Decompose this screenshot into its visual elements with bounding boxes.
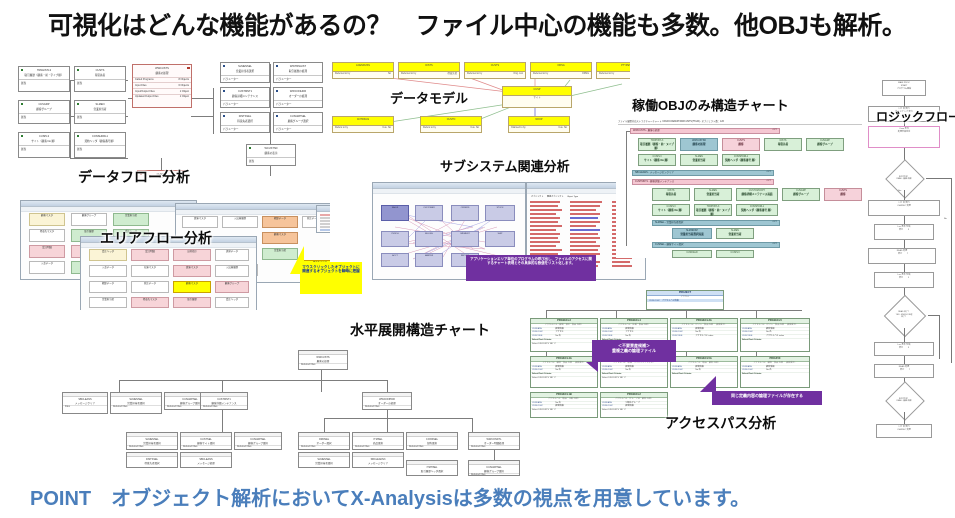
structure-node[interactable]: CUSPL3 サイト（顧客 No 順） <box>652 204 690 216</box>
caption-data-model: データモデル <box>390 88 468 107</box>
flow-step[interactable]: Loc 条件 分岐 実行 5 <box>874 272 934 288</box>
structure-node[interactable]: SLMEN 営業担当者 <box>680 154 718 166</box>
data-flow-node[interactable]: CUSPL3 サイト（顧客 No 順） 属性 <box>18 132 70 158</box>
data-flow-parameters: SLMENSEL 営業担当者選択 パラメーター WWTRNHIST 取引履歴の処… <box>218 58 338 183</box>
node-name: CUSFIELD <box>673 251 711 255</box>
node-title: TRNHISTL3 <box>19 67 69 74</box>
flow-branch-label: Yes <box>898 190 901 192</box>
cell-label: 顧客グループ <box>216 282 248 285</box>
menu-item[interactable] <box>320 217 330 219</box>
row-value: No.名 <box>625 335 630 338</box>
tree-node[interactable]: SLMENSEL 営業担当者選択 <box>298 452 350 468</box>
cell-label: 入出庫履歴 <box>216 266 248 269</box>
tree-root-node[interactable]: WWCUSTS 顧客の処理 Referred Files <box>298 350 348 370</box>
rel-label: Referred to by <box>401 72 416 75</box>
rel-label: Referred to by <box>599 72 614 75</box>
bar-label: SLMSEL - 営業担当者選択 <box>655 221 683 224</box>
node-foot: Referred Files <box>469 473 519 476</box>
context-menu[interactable] <box>316 205 330 233</box>
row-value: 顧客情報 <box>555 328 563 331</box>
node-foot: Referred Files <box>299 445 349 448</box>
node-foot: Referred Files <box>299 363 347 366</box>
table-row[interactable]: CUSLOGIC アクセスパス情報 <box>647 299 723 302</box>
parameter-node[interactable]: WWTRNHIST 取引履歴の処理 パラメーター <box>273 62 323 83</box>
node-title: CUSPL3 <box>19 133 69 140</box>
structure-node[interactable]: TRNHISTL3 取引履歴（顧客・前・ヌイブ順） <box>638 138 676 151</box>
caption-subsystem: サブシステム関連分析 <box>440 156 570 175</box>
caption-access-path: アクセスパス分析 <box>665 413 776 433</box>
node-foot: Referred Files <box>201 405 247 408</box>
row-value: アクセスパス index <box>766 335 784 338</box>
row-key: CUSDATA <box>742 328 766 331</box>
table-crit-label: Select/Omit Criteria <box>741 338 809 342</box>
node-label: SHIP <box>486 232 514 236</box>
data-flow-node[interactable]: CONSHDRL1 契約ヘッダ（顧客番号順） 属性 <box>74 132 126 158</box>
node-desc: 営業担当者 <box>695 193 731 197</box>
node-desc: 顧客詳細メンテナンス画面 <box>737 193 777 197</box>
node-foot: 属性 <box>247 157 295 164</box>
structure-node[interactable]: SLMEN 営業担当者 <box>716 228 754 239</box>
flow-step[interactable]: Loc 条件 分岐 実行 3 <box>874 224 934 240</box>
row-value: 8 Objects <box>178 78 189 82</box>
structure-node[interactable]: DISTS 得意先者 <box>764 138 802 151</box>
area-cell[interactable]: 受注明細 <box>29 245 65 258</box>
row-key: CUSLOGIC <box>672 369 695 372</box>
node-desc: 顧客 <box>825 193 861 197</box>
flow-decision[interactable]: READ 終了？ YES : ENDDO 処理 終了？ <box>880 302 928 328</box>
cell-label: 営業担当者 <box>90 298 126 301</box>
tree-node[interactable]: SBCLEANS メッセージ処理 <box>180 452 232 468</box>
tree-node[interactable]: ITMHSEL 取引履歴ヘッダ選択 <box>406 460 458 476</box>
node-title: WCUSTSD <box>247 145 295 152</box>
node-desc: メッセージ処理 <box>181 461 231 465</box>
node-foot: Referred Files <box>469 445 519 448</box>
data-flow-node[interactable]: CUSGRP 顧客グループ 属性 <box>18 100 70 124</box>
entity-rel: Referred to by 製品コード <box>597 72 630 76</box>
node-foot: パラメーター <box>221 100 269 107</box>
menu-item[interactable] <box>320 214 330 216</box>
row-value: 顧客情報 <box>695 366 703 369</box>
row-key: CUSLOGIC <box>532 331 555 334</box>
cell-label: 入金データ <box>30 262 64 265</box>
menu-titlebar[interactable] <box>317 206 330 212</box>
cell-label: 入出庫履歴 <box>223 217 257 220</box>
flow-step[interactable]: MAIN PROC START プログラム開始 <box>882 80 926 96</box>
crit-row: Select DISCUSTS 'NE' 'C' <box>602 377 626 380</box>
structure-root-bar[interactable]: WWCUSTS - 顧客の処理 OPT <box>630 128 780 134</box>
crit-row: Select DISCUSTS 'NE' 'C' <box>532 377 556 380</box>
cell-label: 請求データ <box>216 250 248 253</box>
menu-item[interactable] <box>320 223 330 225</box>
entity-name: ORSG <box>531 63 591 72</box>
tree-node[interactable]: CUSGRPSEL 顧客グループ選択 Referred Files <box>468 460 520 476</box>
row-label: Updates/Output Files <box>135 95 158 99</box>
structure-node[interactable]: CONSHDRL1 契約ヘッダ（顧客番号 順） <box>736 204 778 216</box>
node-desc: メッセージクリア <box>353 461 403 465</box>
area-cell[interactable]: 入金データ <box>29 261 65 274</box>
node-label: PURCH <box>382 232 408 236</box>
flow-step[interactable]: 1 行 目 実行 CHKREC 処理 <box>868 200 940 216</box>
node-desc: サイト（顧客 No 順） <box>639 159 675 163</box>
rel-label: Refers to by <box>335 126 348 129</box>
area-cell[interactable]: 棚卸データ <box>262 216 298 228</box>
parameter-node[interactable]: WWCONHDR オーダーの処理 パラメーター <box>273 87 323 108</box>
node-foot: Referred Files <box>353 445 403 448</box>
flow-step[interactable]: 1 行 目 実行 CHKREC 処理 <box>876 424 932 438</box>
tree-node[interactable]: SBCLEANS メッセージクリア Files <box>62 392 108 414</box>
step-label: Loc 条件 分岐 実行 3 <box>875 225 933 232</box>
structure-chart-title: ファイル展開対応ストラクチャーチャート XAN/KCOEMUP/WWCUSTS(… <box>618 119 724 123</box>
tree-node[interactable]: CONSSEL 契約選択 Referred Files <box>406 432 458 450</box>
row-label: Input Files <box>135 84 147 88</box>
node-title: SLMEN <box>75 101 125 108</box>
subsystem-node[interactable]: SHIP <box>485 231 515 247</box>
node-foot: 属性 <box>75 145 125 152</box>
area-cell[interactable]: 棚卸データ <box>89 281 127 293</box>
access-table[interactable]: PROJECL4A アクセスパス（顧客・製品 の順 ・ 顧客番号） CUSDAT… <box>530 356 598 388</box>
node-name: CUSPL3 <box>717 251 753 255</box>
data-flow-node[interactable]: CUSTS 得意先者 属性 <box>74 66 126 92</box>
subsystem-node[interactable]: STOCK <box>485 205 515 221</box>
structure-node[interactable]: SLMNDISP 営業担当者選択画面 <box>672 228 712 239</box>
structure-node[interactable]: CUSGRP 顧客グループ <box>806 138 844 151</box>
node-title: CUSGRP <box>19 101 69 108</box>
node-foot: Referred Files <box>127 445 177 448</box>
cell-label: 在庫マスタ <box>132 266 168 269</box>
status-square-icon <box>276 90 279 93</box>
data-model-entity[interactable]: NROP Claimed to by Cus. No <box>508 116 570 133</box>
row-key: CUSCODE <box>672 335 695 338</box>
rel-value: Cus. No <box>558 126 567 129</box>
row-value: 顧客情報 <box>695 328 703 331</box>
tree-node[interactable]: CUSGRPSEL 顧客グループ選択 Referred Files <box>234 432 282 450</box>
row-key: CUSDATA <box>742 366 766 369</box>
node-desc: 営業担当者 <box>717 233 753 237</box>
structure-node[interactable]: CUSTOMCOPY 顧客詳細メンテナンス画面 <box>736 188 778 201</box>
row-key: CUSLOGIC <box>532 405 555 408</box>
structure-node[interactable]: CUSPL3 <box>716 250 754 258</box>
row-value: 1 Object <box>180 95 189 99</box>
data-flow-center-node[interactable]: WWCUSTS 顧客の処理 Called Programs 8 Objects … <box>132 64 192 108</box>
rel-label: Refers to by <box>423 126 436 129</box>
tree-node[interactable]: CUSTMNT1 顧客詳細メンテナンス Referred Files <box>200 392 248 410</box>
rel-value: Cus. No <box>382 126 391 129</box>
center-node-row[interactable]: Updates/Output Files 1 Object <box>133 94 191 100</box>
parameter-node[interactable]: DISTSSEL 得意先者選択 パラメーター <box>220 112 270 133</box>
cell-label: 受注明細 <box>132 250 168 253</box>
cell-label: 発注データ <box>132 282 168 285</box>
subsystem-node[interactable]: PURCH <box>381 231 409 247</box>
node-desc: 契約ヘッダ（顧客番号 順） <box>737 209 777 213</box>
entity-rel: Refers to by Cus. No <box>333 126 393 130</box>
structure-node[interactable]: DISTS 得意先者 <box>652 188 690 201</box>
node-foot: Referred Files <box>363 405 411 408</box>
status-square-icon <box>77 69 80 72</box>
table-crit-row: Select DISCUSTS 'NE' 'C' <box>531 342 597 346</box>
data-model-entity[interactable]: PTYPES Referred to by 製品コード <box>596 62 630 79</box>
parameter-node[interactable]: CUSTMNT1 顧客詳細メンテナンス パラメーター <box>220 87 270 108</box>
node-label: STOCK <box>486 206 514 210</box>
window-toolbar[interactable] <box>21 207 196 212</box>
node-title: CUSTS <box>75 67 125 74</box>
table-crit-row: Select DISCUSTS 'NE' 'C' <box>601 408 667 412</box>
node-foot: パラメーター <box>274 125 322 132</box>
area-cell[interactable]: 受注ヘッダ <box>89 249 127 261</box>
structure-node[interactable]: CUSTS 顧客 <box>824 188 862 201</box>
structure-node[interactable]: CUSTS 顧客 <box>722 138 760 151</box>
tree-node[interactable]: SLMENSEL 営業担当者選択 Referred Files <box>110 392 162 414</box>
row-value: 引取先グループ <box>625 402 639 405</box>
structure-node[interactable]: WWCUSTSD 顧客の処理 <box>680 138 718 151</box>
row-value: 顧客情報 <box>555 366 563 369</box>
row-value: アクセスパス情報 <box>662 300 679 302</box>
row-value: No.名 <box>625 369 630 372</box>
node-foot: 属性 <box>19 113 69 120</box>
data-flow-node[interactable]: TRNHISTL3 取引履歴（顧客・前・字イブ順） 属性 <box>18 66 70 92</box>
data-flow-panel: TRNHISTL3 取引履歴（顧客・前・字イブ順） 属性 CUSGRP 顧客グル… <box>8 58 223 178</box>
data-flow-node[interactable]: SLMEN 営業担当者 属性 <box>74 100 126 124</box>
row-key: CUSCODE <box>742 335 766 338</box>
data-model-entity[interactable]: ORSG Referred to by ORSG <box>530 62 592 79</box>
node-foot: 属性 <box>19 145 69 152</box>
access-root-table[interactable]: PROJECT アクセス CUSLOGIC アクセスパス情報 <box>646 290 724 310</box>
entity-name: CUSTN <box>421 117 481 126</box>
status-square-icon <box>21 69 24 72</box>
area-cell[interactable]: 顧客マスタ <box>262 232 298 244</box>
tree-node[interactable]: WWCONDTL オーダー明細処理 Referred Files <box>468 432 520 450</box>
area-cell[interactable]: 倉庫マスタ <box>182 216 218 228</box>
access-table[interactable]: PROJFIX アクセスパス（顧客・製品 の順 ・ 顧客番号） CUSDATA顧… <box>740 356 810 388</box>
row-key: CUSCODE <box>602 335 625 338</box>
rel-value: Orig. List <box>513 72 523 75</box>
row-key: CUSDATA <box>672 366 695 369</box>
step-label: MAIN PROC START プログラム開始 <box>883 81 925 90</box>
flow-step[interactable]: Loc 条件 分岐 実行 3 <box>874 342 934 356</box>
entity-rel: Claimed to by Cus. No <box>509 126 569 130</box>
crit-label: Select/Omit Criteria <box>532 373 551 376</box>
area-cell[interactable]: 出荷指示 <box>173 249 211 261</box>
data-model-entity[interactable]: CUSTS Referred to by Orig. List <box>464 62 526 79</box>
row-key: CUSDATA <box>532 328 555 331</box>
flow-decision[interactable]: 条件 判定？ READ : 顧客 情報 <box>882 166 926 190</box>
entity-name: CNTRKGS <box>333 117 393 126</box>
row-value: 顧客情報 <box>625 405 633 408</box>
bar-tag: OPT <box>773 221 778 225</box>
flow-decision[interactable]: 条件 判定？ READ : 顧客 情報 <box>882 388 926 412</box>
area-cell[interactable]: 得意先マスタ <box>29 229 65 242</box>
close-icon[interactable] <box>187 67 190 70</box>
area-cell[interactable]: 取引履歴 <box>173 297 211 308</box>
access-table[interactable]: PROJECL3 アクセスパス（顧客・取引・製品 の順） CUSDATA顧客情報… <box>530 318 598 352</box>
entity-name: CUSP <box>503 87 571 96</box>
flow-step[interactable]: READ 処理 実行 7 <box>874 364 934 378</box>
area-cell[interactable]: 顧客グループ <box>215 281 249 293</box>
data-model-entity[interactable]: ACENRUSS Referred to by No <box>332 62 394 79</box>
subsystem-node[interactable]: PAYMENT <box>451 231 479 247</box>
caption-logic-flow: ロジックフロー <box>876 108 955 125</box>
row-value: No.名 <box>555 335 560 338</box>
row-key: CUSLOGIC <box>742 369 766 372</box>
row-value: 1 Object <box>180 90 189 94</box>
data-model-center-entity[interactable]: CUSP サイト <box>502 86 572 108</box>
row-value: No.名 <box>766 331 771 334</box>
structure-bar[interactable]: CUSSEL - 顧客サイト選択 OPT <box>652 242 780 248</box>
col-header: 関連オブジェクト <box>547 196 564 198</box>
area-cell[interactable]: 入金データ <box>89 265 127 277</box>
row-value: 顧客情報 <box>766 328 774 331</box>
caption-data-flow: データフロー分析 <box>78 167 190 187</box>
node-label: SALES <box>382 206 408 210</box>
status-square-icon <box>77 135 80 138</box>
structure-node[interactable]: CUSGRP 顧客グループ <box>782 188 820 201</box>
access-table[interactable]: PROJECL2 アクセスパス（グループ別・顧客 の順） CUSDATA引取先グ… <box>600 392 668 418</box>
row-value: アクセス <box>555 331 563 334</box>
structure-node[interactable]: CUSPL3 サイト（顧客 No 順） <box>638 154 676 166</box>
window-toolbar[interactable] <box>176 210 330 215</box>
subsystem-node[interactable]: MASTER <box>415 253 443 267</box>
menu-item[interactable] <box>320 220 330 222</box>
node-foot: Referred Files <box>111 405 161 408</box>
cell-label: 入金データ <box>90 266 126 269</box>
area-cell[interactable]: 顧客マスタ <box>29 213 65 226</box>
area-cell[interactable]: 営業担当者 <box>113 213 149 226</box>
structure-node[interactable]: SLMEN 営業担当者 <box>694 188 732 201</box>
step-label: 1 行 目 実行 CHKREC 処理 <box>877 425 931 432</box>
tree-node[interactable]: WWCONHDR オーダーの処理 Referred Files <box>362 392 412 410</box>
flow-step[interactable]: Case 条件 処理分岐判定 <box>868 126 940 148</box>
area-cell[interactable]: 営業担当者 <box>89 297 127 308</box>
status-square-icon <box>249 147 252 150</box>
area-cell-selected[interactable]: 顧客マスタ <box>173 281 211 293</box>
table-row[interactable]: CUSCODEアクセスパス index <box>671 334 737 338</box>
step-label: READ 処理 実行 7 <box>869 249 935 256</box>
bar-tag: OPT <box>767 180 772 184</box>
step-label: 1 行 目 実行 CHKREC 処理 <box>869 201 939 208</box>
cell-label: 取引履歴 <box>174 298 210 301</box>
status-square-icon <box>276 115 279 118</box>
area-cell[interactable]: 発注データ <box>131 281 169 293</box>
callout-access-left: ＜不要資産候補＞ 重複之義の論理ファイル <box>592 340 676 362</box>
tree-node[interactable]: CUSTSEL 顧客サイト選択 Referred Files <box>180 432 232 450</box>
tree-node[interactable]: SBCLEANS3 メッセージクリア <box>352 452 404 468</box>
row-value: 顧客情報 <box>766 366 774 369</box>
cell-label: 顧客マスタ <box>30 214 64 217</box>
cell-label: 倉庫マスタ <box>183 217 217 220</box>
data-model-entity[interactable]: CNTRKGS Refers to by Cus. No <box>332 116 394 133</box>
node-foot: パラメーター <box>221 75 269 82</box>
menu-item[interactable] <box>320 229 330 231</box>
tree-node[interactable]: ITMSEL 商品選択 Referred Files <box>352 432 404 450</box>
row-label: Called Programs <box>135 78 154 82</box>
table-crit-row: Select DISCUSTS 'NE' 'C' <box>601 376 667 380</box>
row-value: 顧客情報 <box>555 405 563 408</box>
decision-label: 条件 判定？ READ : 顧客 情報 <box>882 166 926 190</box>
area-cell[interactable]: 受注ヘッダ <box>215 297 249 308</box>
rel-label: Referred to by <box>467 72 482 75</box>
node-desc: 営業担当者選択画面 <box>673 233 711 237</box>
subsystem-node[interactable]: CUSTOMER <box>415 205 443 221</box>
crit-row: Select DISCUSTS 'NE' 'C' <box>532 409 556 412</box>
area-cell[interactable]: 入出庫履歴 <box>215 265 249 277</box>
area-cell[interactable]: 入出庫履歴 <box>222 216 258 228</box>
slide-canvas: 可視化はどんな機能があるの？ ファイル中心の機能も多数。他OBJも解析。 TRN… <box>0 0 955 518</box>
flow-step[interactable]: READ 処理 実行 7 <box>868 248 936 264</box>
entity-rel: Refers to by Cus. No <box>421 126 481 130</box>
parameter-node[interactable]: WCUSTSD 顧客の表示 属性 <box>246 144 296 166</box>
area-cell[interactable]: 受注明細 <box>131 249 169 261</box>
table-crit-row: Select DISCUSTS 'NE' 'C' <box>531 408 597 412</box>
subsystem-node[interactable]: BILLING <box>415 231 443 247</box>
row-value: 顧客情報 <box>625 328 633 331</box>
status-square-icon <box>77 103 80 106</box>
area-cell[interactable]: 顧客グループ <box>71 213 107 226</box>
entity-rel: Referred to by No <box>333 72 393 76</box>
node-foot: 属性 <box>75 79 125 86</box>
cell-label: 出荷指示 <box>174 250 210 253</box>
structure-bar[interactable]: CUSTMNT1 - 顧客詳細メンテナンス OPT <box>632 179 774 185</box>
cell-label: 受注ヘッダ <box>90 250 126 253</box>
node-title: DISTSSEL <box>221 113 269 120</box>
rel-value: 得意先者 <box>447 72 457 75</box>
structure-bar[interactable]: SLMSEL - 営業担当者選択 OPT <box>652 220 780 226</box>
menu-item[interactable] <box>320 226 330 228</box>
callout-subsystem: アプリケーションエリア単位のプログラムの呼び出し、ファイルのアクセスに関するチャ… <box>466 255 596 281</box>
rel-label: Referred to by <box>335 72 350 75</box>
area-cell[interactable]: 倉庫マスタ <box>173 265 211 277</box>
cell-label: 棚卸データ <box>263 217 297 220</box>
cell-label: 顧客マスタ <box>263 233 297 236</box>
area-cell[interactable]: 請求データ <box>215 249 249 261</box>
structure-bar[interactable]: SBCLEANS - メッセージセンクリア OPT <box>632 170 774 176</box>
tree-node[interactable]: SLMENSEL 営業担当者選択 Referred Files <box>126 432 178 450</box>
row-label: Input/Output Files <box>135 90 155 94</box>
structure-chart-panel: ファイル展開対応ストラクチャーチャート XAN/KCOEMUP/WWCUSTS(… <box>616 118 866 258</box>
node-desc: 取引履歴（顧客・前・ヌイブ順） <box>639 143 675 151</box>
area-flow-panel: 顧客マスタ 顧客グループ 営業担当者 得意先マスタ 取引履歴 受注ヘッダ 受注明… <box>20 200 330 310</box>
subsystem-node-selected[interactable]: SALES <box>381 205 409 221</box>
parameter-node[interactable]: SLMENSEL 営業担当者選択 パラメーター <box>220 62 270 83</box>
data-model-entity[interactable]: DISTS Referred to by 得意先者 <box>398 62 460 79</box>
structure-node[interactable]: CUSFIELD <box>672 250 712 258</box>
node-desc: 取引履歴（顧客・前・ヌイブ順） <box>695 209 731 217</box>
access-table[interactable]: PROJECL1B アクセスパス（製品・注番 の順） CUSDATANo.名 C… <box>530 392 598 418</box>
row-value: No.名 <box>695 369 700 372</box>
structure-node[interactable]: TRNHISTL3 取引履歴（顧客・前・ヌイブ順） <box>694 204 732 216</box>
structure-node[interactable]: CONSHDRL1 契約ヘッダ（顧客番号 順） <box>722 154 760 166</box>
row-key: CUSDATA <box>672 328 695 331</box>
area-cell[interactable]: 得意先マスタ <box>131 297 169 308</box>
root-tag: OPT <box>773 129 778 133</box>
subsystem-node[interactable]: ORDERS <box>451 205 479 221</box>
parameter-node[interactable]: CUSGRPSEL 顧客グループ選択 パラメーター <box>273 112 323 133</box>
tree-node[interactable]: ORDSEL オーダー選択 Referred Files <box>298 432 350 450</box>
access-table[interactable]: PROJECL5 アクセスパス（サイト・製品 の順 ・ 顧客番号） CUSDAT… <box>740 318 810 352</box>
data-model-entity[interactable]: CUSTN Refers to by Cus. No <box>420 116 482 133</box>
subsystem-node[interactable]: ACCT <box>381 253 409 267</box>
cell-label: 受注ヘッダ <box>216 298 248 301</box>
window-toolbar[interactable] <box>373 189 525 194</box>
row-value: アクセスパス index <box>695 335 713 338</box>
caption-area-flow: エリアフロー分析 <box>100 228 212 248</box>
rel-value: ORSG <box>582 72 589 75</box>
node-desc: 取引履歴ヘッダ選択 <box>407 469 457 473</box>
row-key: CUSLOGIC <box>672 331 695 334</box>
tree-node[interactable]: DISTSSEL 得意先者選択 <box>126 452 178 468</box>
access-table[interactable]: PROJECL3A アクセスパス（サイト・製品 の順 ・ 顧客番号） CUSDA… <box>670 318 738 352</box>
node-desc: サイト（顧客 No 順） <box>653 209 689 213</box>
cell-label: 顧客マスタ <box>174 282 210 285</box>
area-cell[interactable]: 在庫マスタ <box>131 265 169 277</box>
